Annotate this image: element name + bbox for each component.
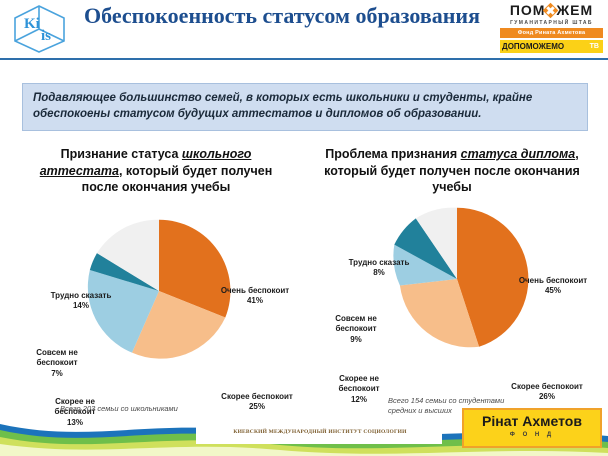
- pie-label-text: Совсем не беспокоит: [36, 348, 78, 368]
- pie-label-value: 7%: [51, 369, 63, 378]
- chart-footnote-right-line1: Всего 154 семьи со студентами: [388, 396, 504, 405]
- pie-label-left-hard-to-say: Трудно сказать 14%: [42, 291, 120, 312]
- pie-label-right-hard-to-say: Трудно сказать 8%: [340, 258, 418, 279]
- chart-title-left: Признание статуса школьного аттестата, к…: [21, 146, 291, 196]
- pie-label-text: Очень беспокоит: [519, 276, 587, 285]
- pie-label-right-rather-not: Скорее не беспокоит 12%: [320, 374, 398, 406]
- pie-label-value: 41%: [247, 296, 263, 305]
- pie-label-value: 12%: [351, 395, 367, 404]
- svg-text:is: is: [41, 28, 51, 44]
- pomozhem-fund-bar: Фонд Рината Ахметова: [500, 28, 603, 38]
- chart-title-right-emphasis: статуса диплома: [461, 147, 576, 161]
- pie-chart-left-wrap: Трудно сказать 14% Совсем не беспокоит 7…: [8, 196, 304, 381]
- pie-label-text: Совсем не беспокоит: [335, 314, 377, 334]
- summary-banner-text: Подавляющее большинство семей, в которых…: [23, 84, 587, 122]
- pie-label-text: Трудно сказать: [349, 258, 410, 267]
- pie-label-value: 8%: [373, 268, 385, 277]
- chart-title-right-part1: Проблема признания: [325, 147, 460, 161]
- page-title: Обеспокоенность статусом образования: [84, 2, 484, 30]
- slide-root: Ki is Обеспокоенность статусом образован…: [0, 0, 608, 456]
- pomozhem-wordmark: ПОМЖЕМ: [500, 2, 603, 19]
- dopomozhemo-bar: ДОПОМОЖЕМО ТВ: [500, 40, 603, 53]
- rinat-akhmetov-name: Рінат Ахметов: [464, 410, 600, 431]
- pie-chart-right: [382, 204, 532, 354]
- pomozhem-logo: ПОМЖЕМ ГУМАНИТАРНЫЙ ШТАБ Фонд Рината Ахм…: [500, 2, 603, 52]
- rinat-akhmetov-foundation-logo: Рінат Ахметов Ф О Н Д: [462, 408, 602, 448]
- pomozhem-word-right: ЖЕМ: [556, 2, 593, 18]
- chart-column-right: Проблема признания статуса диплома, кото…: [304, 146, 600, 426]
- pie-chart-right-wrap: Трудно сказать 8% Совсем не беспокоит 9%…: [304, 196, 600, 381]
- pie-label-text: Трудно сказать: [51, 291, 112, 300]
- kiis-logo-icon: Ki is: [8, 3, 70, 55]
- institute-label: КИЕВСКИЙ МЕЖДУНАРОДНЫЙ ИНСТИТУТ СОЦИОЛОГ…: [205, 429, 435, 435]
- summary-banner: Подавляющее большинство семей, в которых…: [22, 83, 588, 131]
- pie-label-value: 25%: [249, 402, 265, 411]
- pie-label-text: Очень беспокоит: [221, 286, 289, 295]
- chart-title-right: Проблема признания статуса диплома, кото…: [317, 146, 587, 196]
- pie-label-value: 14%: [73, 301, 89, 310]
- svg-text:Ki: Ki: [24, 16, 40, 32]
- chart-footnote-right-line2: средних и высших: [388, 406, 452, 415]
- chart-footnote-left: Всего 203 семьи со школьниками: [60, 404, 178, 414]
- pie-label-left-rather: Скорее беспокоит 25%: [218, 392, 296, 413]
- tv-label: ТВ: [590, 40, 599, 53]
- header-divider: [0, 58, 608, 60]
- pie-label-right-very: Очень беспокоит 45%: [514, 276, 592, 297]
- pie-label-value: 9%: [350, 335, 362, 344]
- pie-label-left-not-at-all: Совсем не беспокоит 7%: [18, 348, 96, 380]
- chart-title-left-part1: Признание статуса: [61, 147, 182, 161]
- slide-header: Ki is Обеспокоенность статусом образован…: [0, 0, 608, 70]
- pie-label-left-very: Очень беспокоит 41%: [216, 286, 294, 307]
- pomozhem-subtitle: ГУМАНИТАРНЫЙ ШТАБ: [500, 19, 603, 27]
- pie-label-text: Скорее беспокоит: [221, 392, 293, 401]
- pie-label-text: Скорее не беспокоит: [338, 374, 379, 394]
- pie-label-right-not-at-all: Совсем не беспокоит 9%: [317, 314, 395, 346]
- pie-label-value: 45%: [545, 286, 561, 295]
- pie-label-text: Скорее беспокоит: [511, 382, 583, 391]
- pomozhem-word-left: ПОМ: [510, 2, 546, 18]
- chart-column-left: Признание статуса школьного аттестата, к…: [8, 146, 304, 426]
- rinat-akhmetov-fond-label: Ф О Н Д: [464, 431, 600, 439]
- dopomozhemo-label: ДОПОМОЖЕМО: [502, 40, 564, 53]
